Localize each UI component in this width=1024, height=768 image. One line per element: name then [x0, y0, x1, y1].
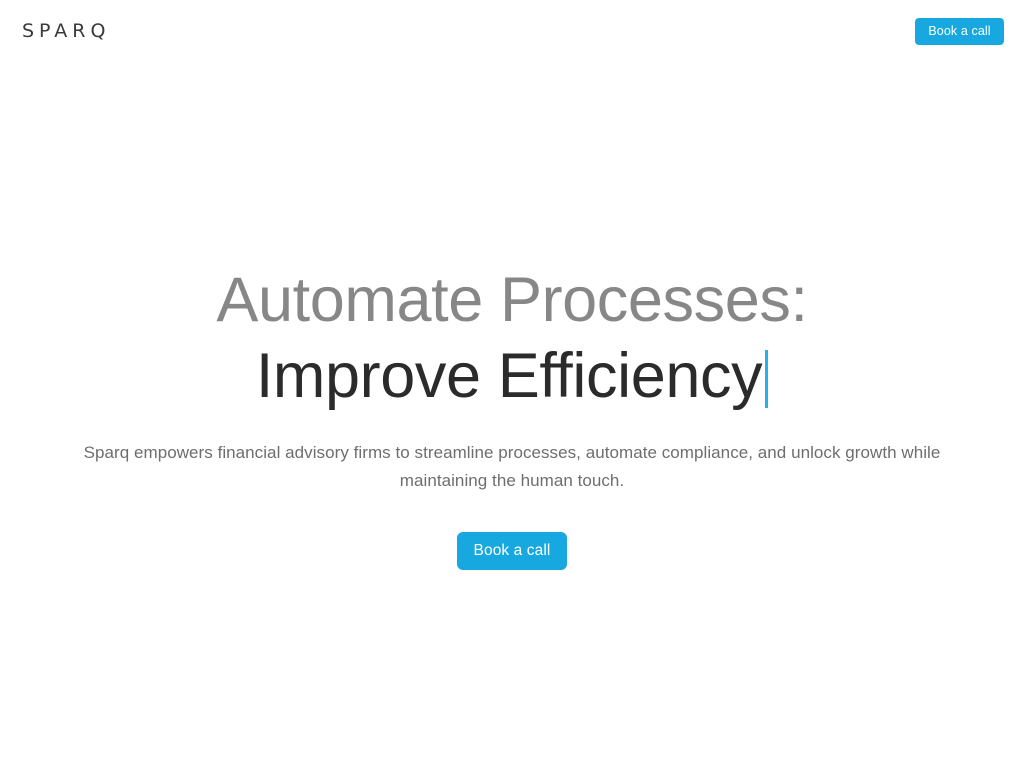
header-book-a-call-button[interactable]: Book a call	[915, 18, 1004, 45]
site-header: SPARQ Book a call	[0, 0, 1024, 62]
hero-cta-container: Book a call	[0, 532, 1024, 570]
headline-typed-text: Improve Efficiency	[256, 341, 762, 411]
hero-book-a-call-button[interactable]: Book a call	[457, 532, 567, 570]
hero-headline: Automate Processes: Improve Efficiency	[0, 262, 1024, 414]
hero-subtext: Sparq empowers financial advisory firms …	[72, 439, 952, 495]
headline-line-primary: Automate Processes:	[0, 262, 1024, 338]
typing-caret-icon	[765, 350, 768, 408]
hero-section: Automate Processes: Improve Efficiency S…	[0, 262, 1024, 570]
landing-page: SPARQ Book a call Automate Processes: Im…	[0, 0, 1024, 768]
sparq-logo[interactable]: SPARQ	[22, 20, 110, 42]
headline-line-secondary: Improve Efficiency	[0, 338, 1024, 414]
